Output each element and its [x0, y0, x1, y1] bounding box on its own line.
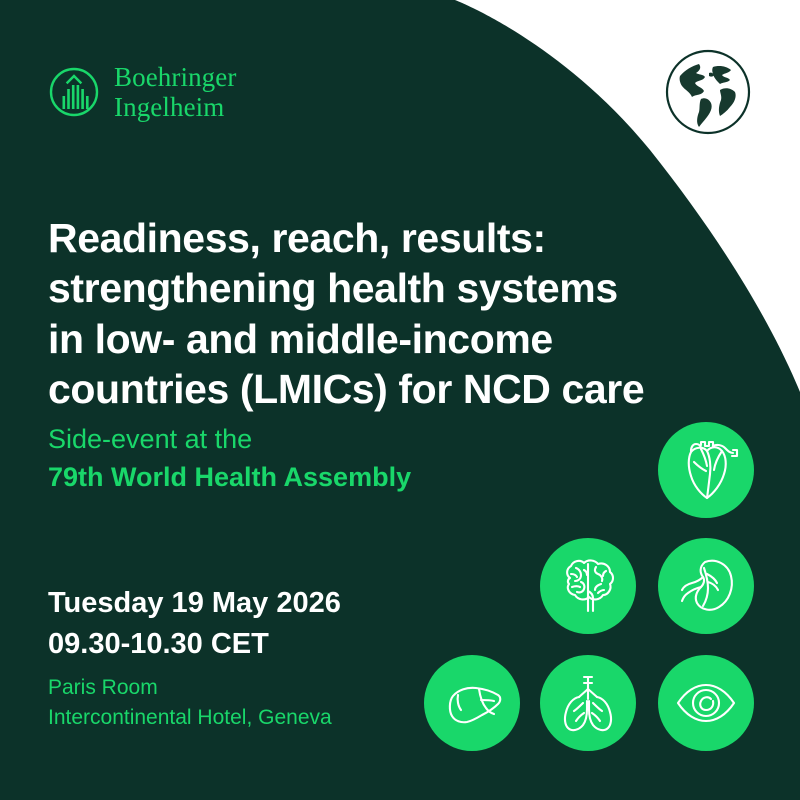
lungs-icon	[540, 655, 636, 751]
globe-icon	[658, 42, 758, 142]
brand-logo: Boehringer Ingelheim	[48, 62, 236, 122]
subtitle-line-2: 79th World Health Assembly	[48, 458, 608, 496]
brain-icon	[540, 538, 636, 634]
boehringer-ingelheim-mark-icon	[48, 66, 100, 118]
heart-icon	[658, 422, 754, 518]
liver-icon	[424, 655, 520, 751]
event-datetime: Tuesday 19 May 2026 09.30-10.30 CET	[48, 583, 568, 665]
event-subtitle: Side-event at the 79th World Health Asse…	[48, 420, 608, 497]
kidney-icon	[658, 538, 754, 634]
page-title: Readiness, reach, results: strengthening…	[48, 213, 708, 413]
subtitle-line-1: Side-event at the	[48, 420, 608, 458]
eye-icon	[658, 655, 754, 751]
brand-wordmark: Boehringer Ingelheim	[114, 62, 236, 122]
event-poster: Boehringer Ingelheim Readiness, reach, r…	[0, 0, 800, 800]
event-date: Tuesday 19 May 2026	[48, 583, 568, 624]
